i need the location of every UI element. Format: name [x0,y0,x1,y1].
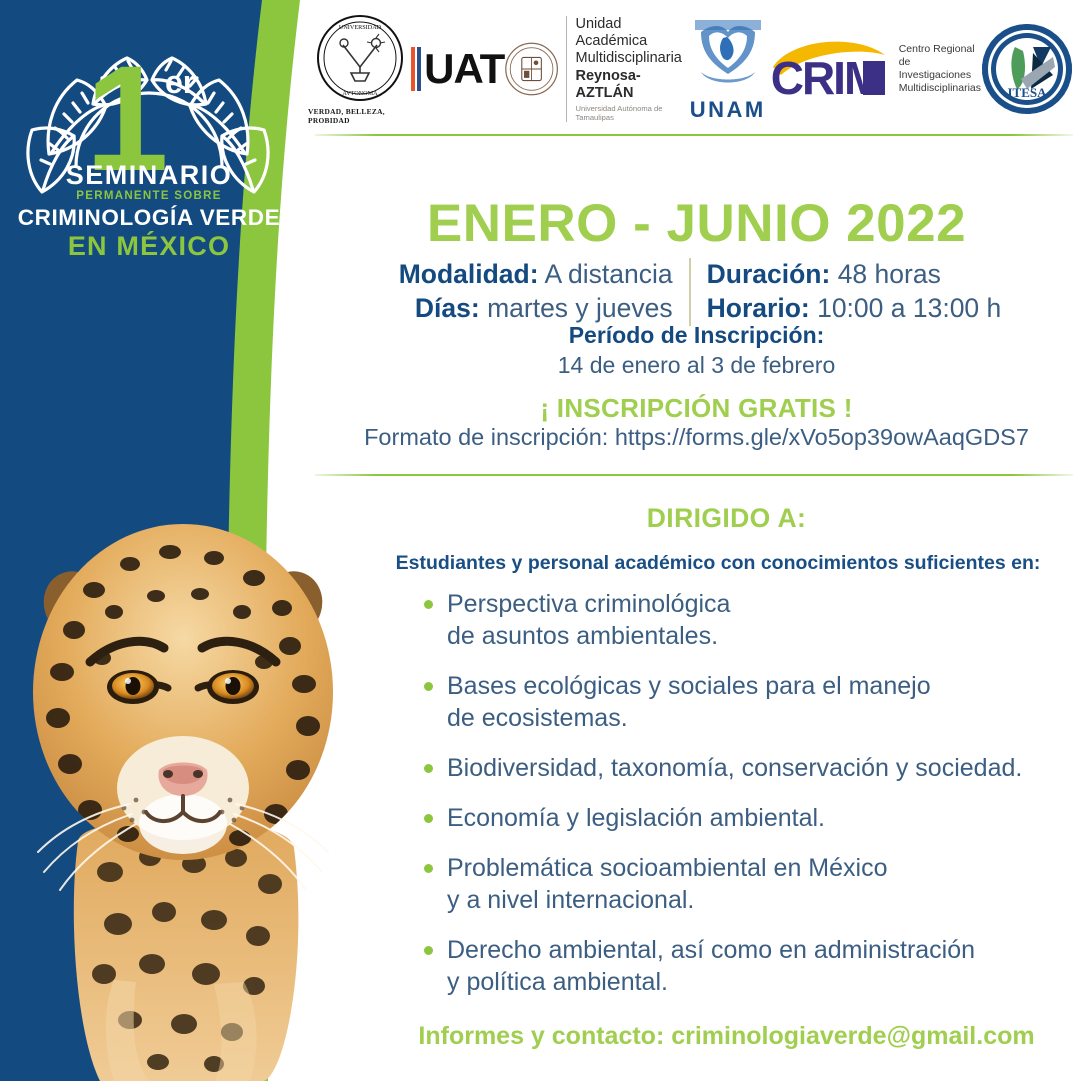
audience-heading: DIRIGIDO A: [380,503,1073,534]
duracion-row: Duración: 48 horas [707,258,1002,292]
svg-text:er: er [165,64,195,100]
bullet-dot-icon [424,946,433,955]
crim-wordmark: CRIM [771,51,881,105]
contact-email[interactable]: Informes y contacto: criminologiaverde@g… [380,1022,1073,1051]
list-item-text: Perspectiva criminológicade asuntos ambi… [447,588,730,652]
list-item: Derecho ambiental, así como en administr… [424,934,1074,998]
bullet-dot-icon [424,764,433,773]
list-item: Biodiversidad, taxonomía, conservación y… [424,752,1074,784]
free-registration-badge: ¡ INSCRIPCIÓN GRATIS ! [320,393,1073,424]
bullet-dot-icon [424,864,433,873]
dias-value: martes y jueves [480,293,673,323]
poster-canvas: 1 er SEMINARIO PERMANENTE SOBRE CRIMINOL… [0,0,1081,1081]
audience-list: Perspectiva criminológicade asuntos ambi… [424,588,1074,1016]
audience-subtitle: Estudiantes y personal académico con con… [368,552,1068,575]
unam-logo: UNAM [689,16,767,123]
itesa-wordmark-text: ITESA [1007,85,1047,100]
uam-crest-icon [504,38,559,100]
emblem-criminologia: CRIMINOLOGÍA VERDE [14,205,284,231]
registration-form-link[interactable]: Formato de inscripción: https://forms.gl… [320,424,1073,451]
uat-seal-icon: UNIVERSIDAD AVTONOMA [313,13,407,105]
duracion-label: Duración: [707,259,831,289]
emblem-en-mexico: EN MÉXICO [14,231,284,262]
crim-mark-icon: CRIM [767,37,893,101]
uam-line-4: Universidad Autónoma de Tamaulipas [575,104,688,122]
uam-line-2: Multidisciplinaria [575,50,688,67]
list-item: Perspectiva criminológicade asuntos ambi… [424,588,1074,652]
uam-line-3: Reynosa-AZTLÁN [575,68,688,102]
course-details: Modalidad: A distancia Días: martes y ju… [330,258,1070,326]
modalidad-label: Modalidad: [399,259,539,289]
crim-line-2: Investigaciones [899,69,981,82]
seminar-emblem: 1 er SEMINARIO PERMANENTE SOBRE CRIMINOL… [14,18,284,248]
course-details-left: Modalidad: A distancia Días: martes y ju… [399,258,691,326]
list-item-text: Bases ecológicas y sociales para el mane… [447,670,931,734]
horario-label: Horario: [707,293,810,323]
unam-shield-icon [689,16,767,96]
crim-line-1: Centro Regional de [899,43,981,69]
dias-label: Días: [415,293,480,323]
jaguar-photo [18,512,348,1081]
bullet-dot-icon [424,600,433,609]
list-item-text: Biodiversidad, taxonomía, conservación y… [447,752,1022,784]
course-details-right: Duración: 48 horas Horario: 10:00 a 13:0… [691,258,1002,326]
svg-text:AVTONOMA: AVTONOMA [342,90,378,97]
registration-period-dates: 14 de enero al 3 de febrero [320,352,1073,379]
uat-bars-icon [411,47,421,91]
bullet-dot-icon [424,682,433,691]
itesa-logo: ITESA [981,23,1073,115]
dias-row: Días: martes y jueves [399,292,673,326]
duracion-value: 48 horas [830,259,941,289]
institution-logo-strip: UNIVERSIDAD AVTONOMA VERDAD, BELLEZA, PR… [300,6,1081,132]
list-item: Problemática socioambiental en Méxicoy a… [424,852,1074,916]
svg-text:UNIVERSIDAD: UNIVERSIDAD [338,24,381,31]
divider-top [315,134,1073,139]
crim-line-3: Multidisciplinarias [899,82,981,95]
uat-seal-motto: VERDAD, BELLEZA, PROBIDAD [308,107,411,125]
itesa-seal-icon: ITESA [981,23,1073,115]
modalidad-row: Modalidad: A distancia [399,258,673,292]
list-item: Economía y legislación ambiental. [424,802,1074,834]
modalidad-value: A distancia [539,259,673,289]
emblem-permanente: PERMANENTE SOBRE [14,190,284,202]
emblem-seminario: SEMINARIO [14,160,284,191]
page-title: ENERO - JUNIO 2022 [320,193,1073,254]
uam-line-1: Unidad Académica [575,16,688,50]
crim-logo: CRIM Centro Regional de Investigaciones … [767,37,981,101]
bullet-dot-icon [424,814,433,823]
list-item-text: Economía y legislación ambiental. [447,802,825,834]
divider-middle [315,474,1073,479]
horario-value: 10:00 a 13:00 h [810,293,1002,323]
uat-wordmark-logo: UAT [411,45,504,93]
registration-period-label: Período de Inscripción: [320,322,1073,349]
list-item-text: Derecho ambiental, así como en administr… [447,934,975,998]
uam-reynosa-aztlan-logo: Unidad Académica Multidisciplinaria Reyn… [504,16,688,122]
uat-seal-logo: UNIVERSIDAD AVTONOMA VERDAD, BELLEZA, PR… [308,13,411,125]
list-item-text: Problemática socioambiental en Méxicoy a… [447,852,888,916]
unam-wordmark: UNAM [690,97,766,123]
horario-row: Horario: 10:00 a 13:00 h [707,292,1002,326]
uat-wordmark-text: UAT [424,45,504,93]
list-item: Bases ecológicas y sociales para el mane… [424,670,1074,734]
